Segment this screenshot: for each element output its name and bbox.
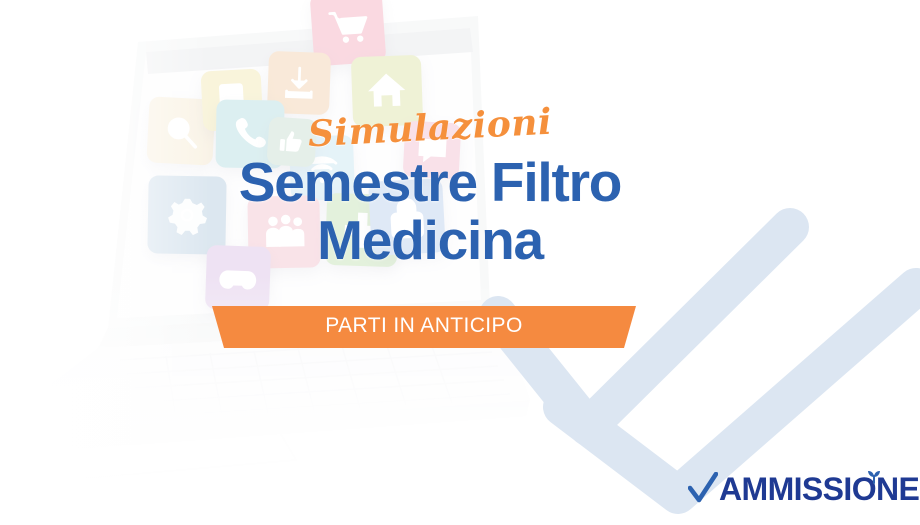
brand-logo[interactable]: AMMISSIONE .iT: [688, 468, 920, 510]
brand-name: AMMISSIONE: [719, 473, 919, 505]
sprout-icon: [866, 470, 882, 484]
headline-block: Simulazioni Semestre Filtro Medicina: [190, 110, 670, 268]
check-icon: [688, 472, 718, 506]
shopping-cart-icon: [324, 4, 372, 52]
home-icon: [365, 69, 410, 114]
ribbon-label: PARTI IN ANTICIPO: [212, 306, 636, 348]
cta-ribbon[interactable]: PARTI IN ANTICIPO: [212, 306, 636, 348]
promo-banner: Simulazioni Semestre Filtro Medicina PAR…: [0, 0, 920, 525]
page-title: Semestre Filtro Medicina: [190, 154, 670, 268]
title-line-2: Medicina: [190, 212, 670, 268]
download-icon: [279, 63, 319, 103]
title-line-1: Semestre Filtro: [239, 151, 621, 213]
